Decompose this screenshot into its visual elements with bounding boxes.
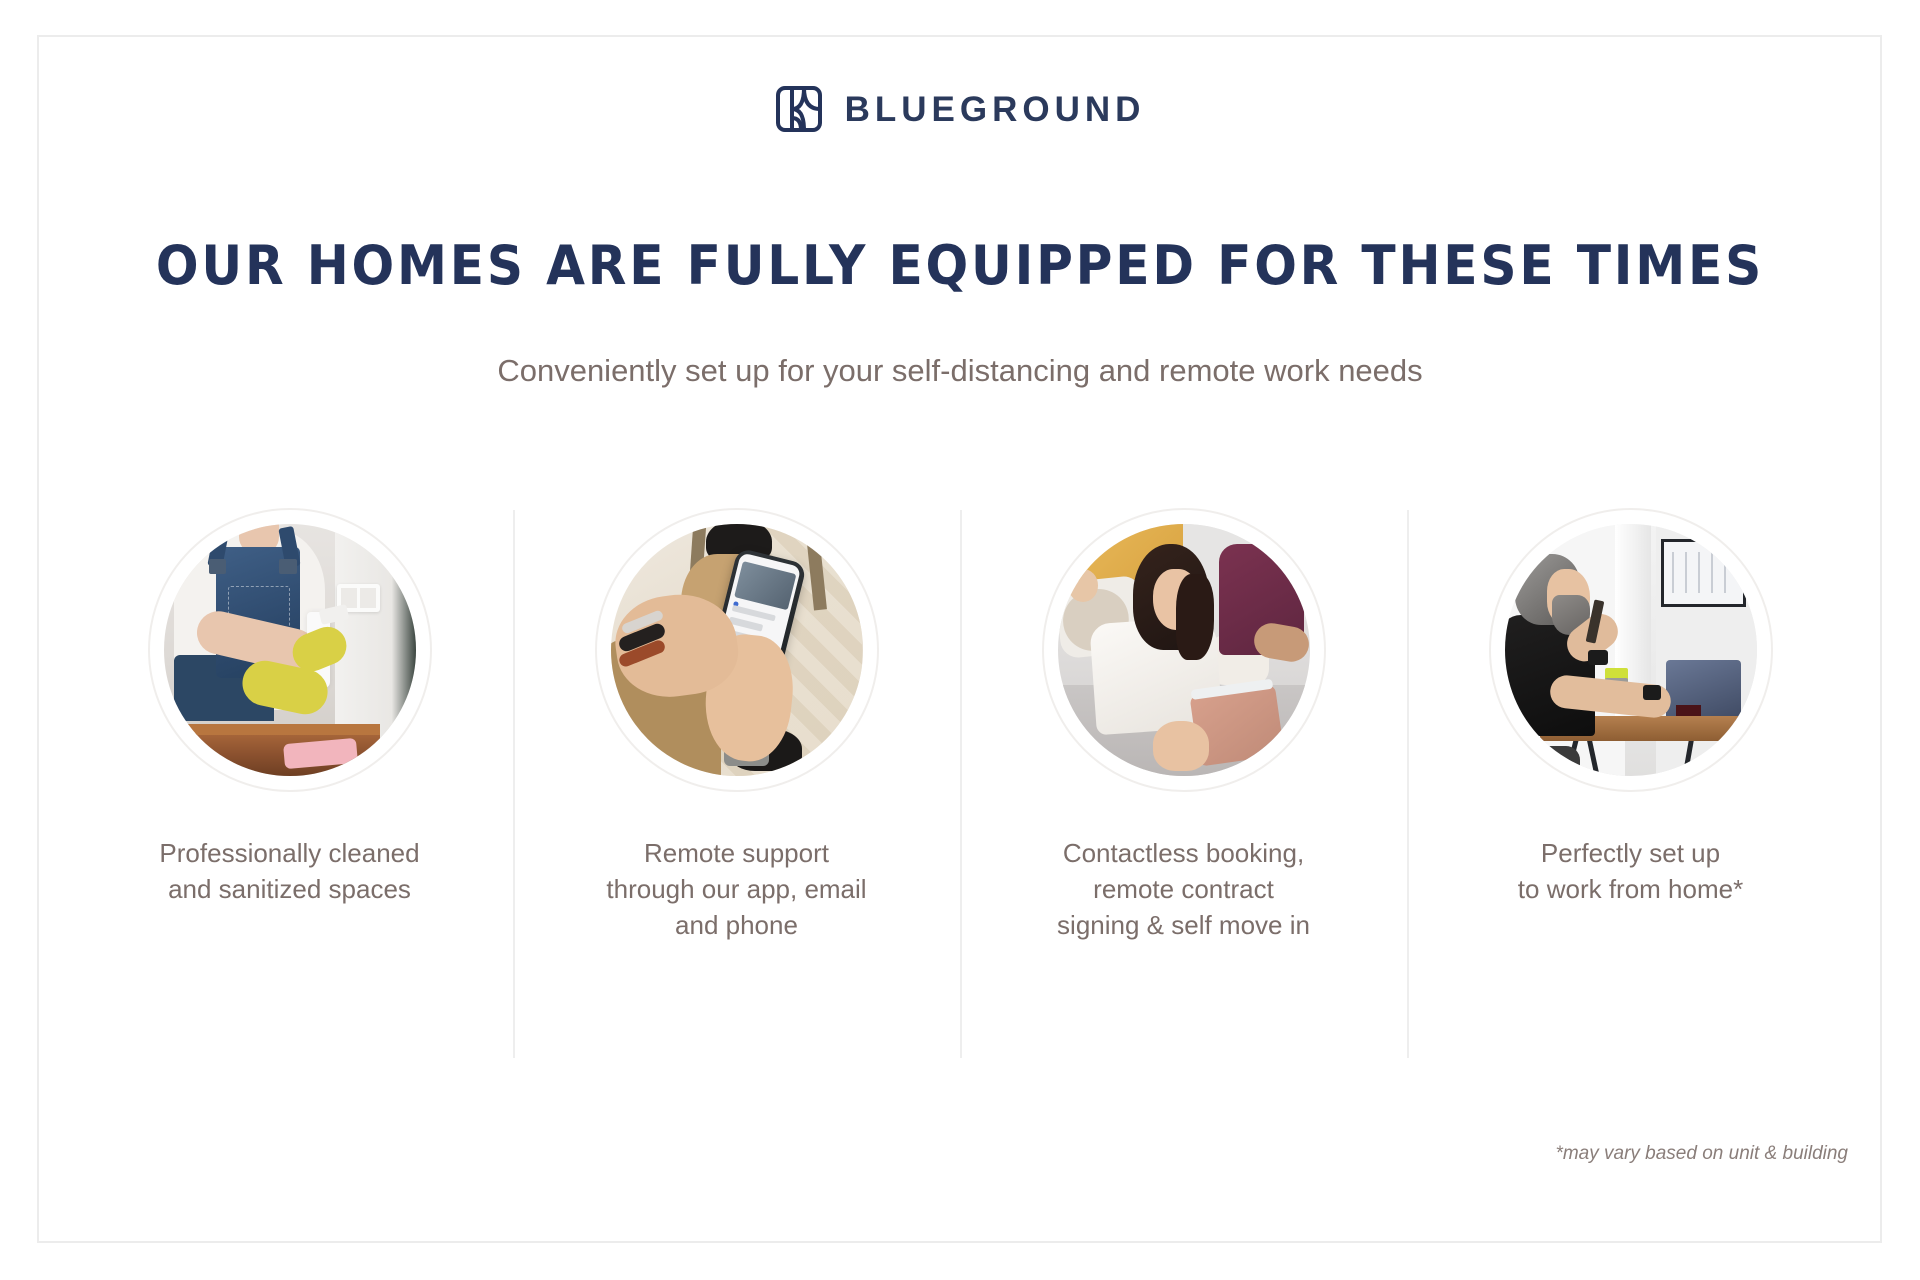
feature-card-work-from-home: Perfectly set up to work from home*: [1407, 508, 1854, 908]
page-subtitle: Conveniently set up for your self-distan…: [0, 352, 1920, 391]
photo-ring: [148, 508, 432, 792]
blueground-square-logo-icon: [775, 85, 823, 133]
feature-card-contactless-booking: Contactless booking, remote contract sig…: [960, 508, 1407, 944]
feature-caption: Professionally cleaned and sanitized spa…: [159, 836, 419, 908]
feature-card-cleaning: Professionally cleaned and sanitized spa…: [66, 508, 513, 908]
photo-ring: [1489, 508, 1773, 792]
photo-professional-cleaning: [164, 524, 416, 776]
feature-row: Professionally cleaned and sanitized spa…: [66, 508, 1854, 1060]
photo-ring: [1042, 508, 1326, 792]
feature-card-remote-support: Remote support through our app, email an…: [513, 508, 960, 944]
footnote-disclaimer: *may vary based on unit & building: [1555, 1143, 1848, 1165]
feature-caption: Perfectly set up to work from home*: [1518, 836, 1743, 908]
poster-canvas: BLUEGROUND OUR HOMES ARE FULLY EQUIPPED …: [0, 0, 1920, 1280]
feature-caption: Contactless booking, remote contract sig…: [1057, 836, 1310, 944]
photo-remote-support-phone: [611, 524, 863, 776]
photo-contactless-booking-tablet: [1058, 524, 1310, 776]
brand-wordmark: BLUEGROUND: [845, 92, 1146, 127]
photo-work-from-home-desk: [1505, 524, 1757, 776]
page-title: OUR HOMES ARE FULLY EQUIPPED FOR THESE T…: [67, 238, 1853, 295]
photo-ring: [595, 508, 879, 792]
feature-caption: Remote support through our app, email an…: [606, 836, 866, 944]
brand-lockup: BLUEGROUND: [0, 85, 1920, 133]
